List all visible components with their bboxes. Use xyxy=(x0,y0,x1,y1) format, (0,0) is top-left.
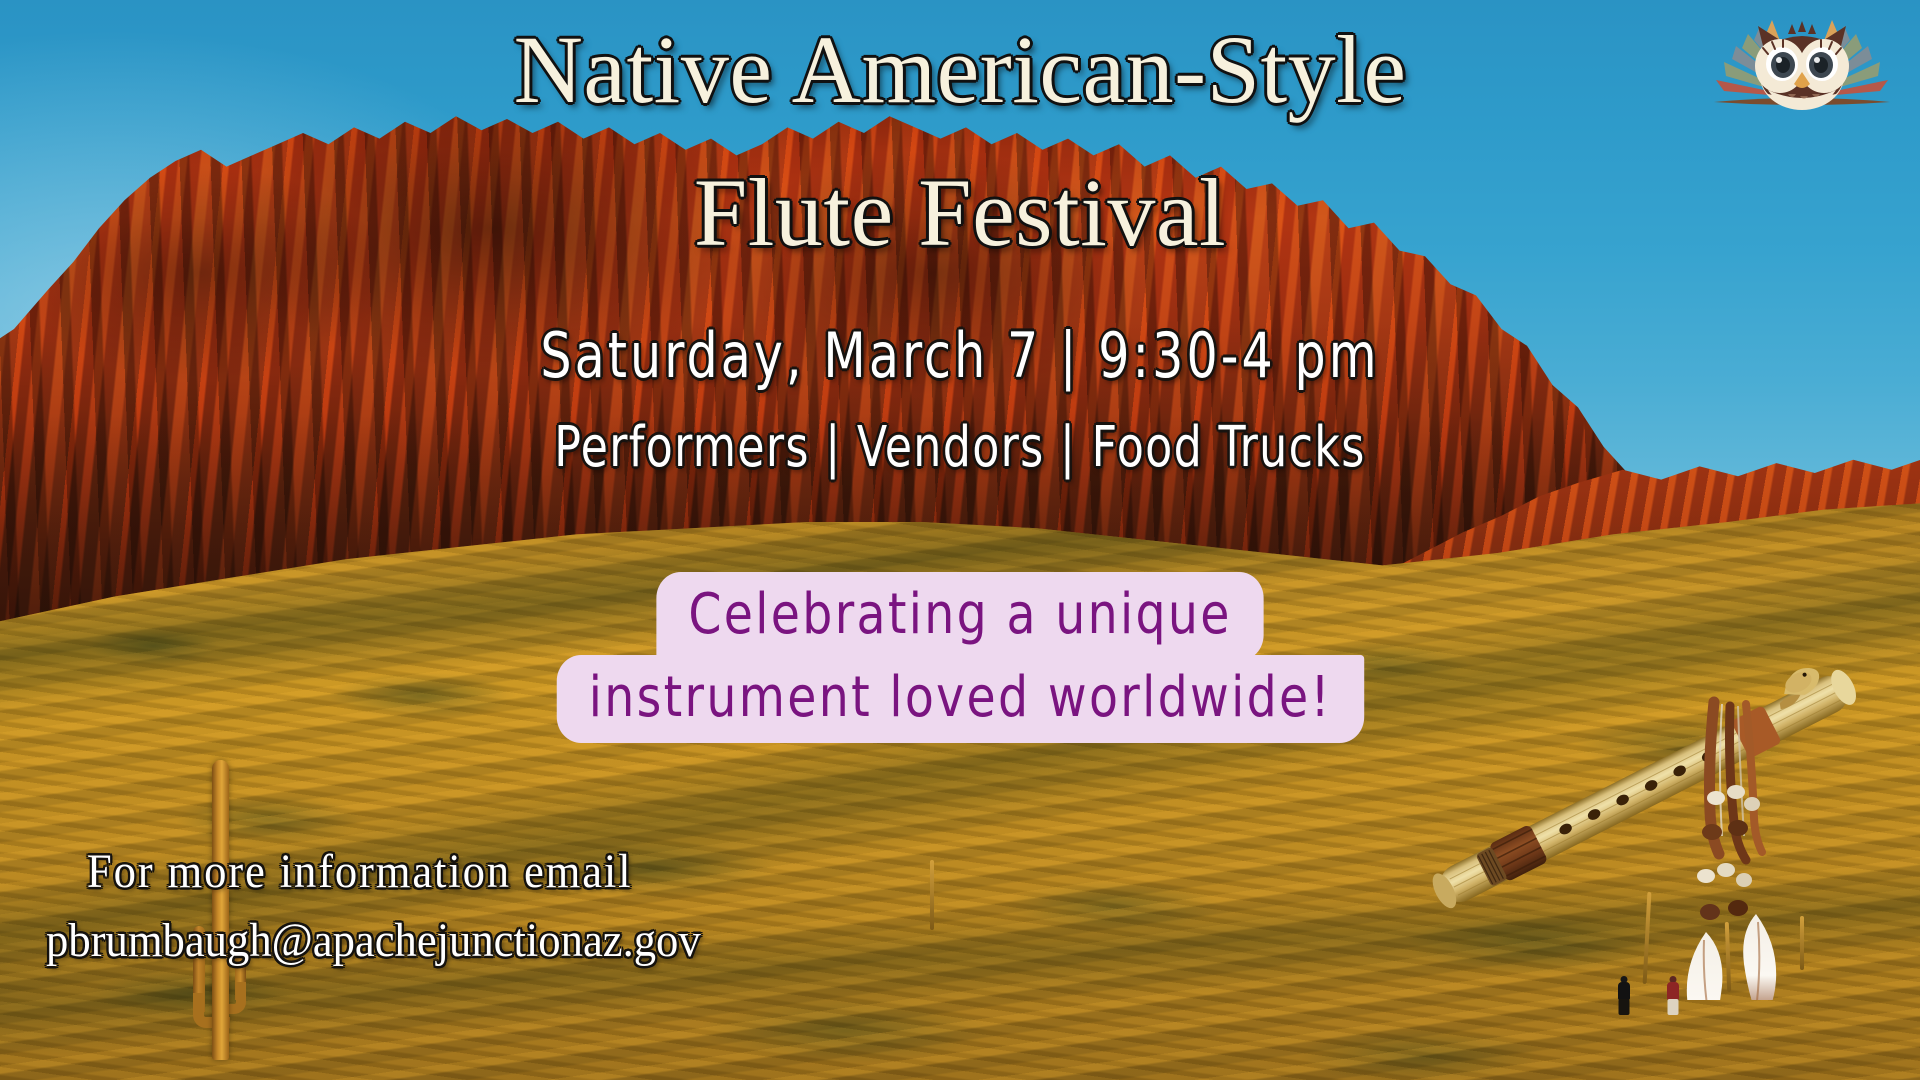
event-date-time: Saturday, March 7 | 9:30-4 pm xyxy=(115,325,1805,387)
poster-title-line-1: Native American-Style xyxy=(0,22,1920,118)
poster-text-layer: Native American-Style Flute Festival Sat… xyxy=(0,0,1920,1080)
flute-festival-poster: Native American-Style Flute Festival Sat… xyxy=(0,0,1920,1080)
tagline-line-1: Celebrating a unique xyxy=(656,572,1263,661)
contact-instruction: For more information email xyxy=(87,841,701,903)
contact-block: For more information email pbrumbaugh@ap… xyxy=(46,841,701,972)
poster-title-line-2: Flute Festival xyxy=(0,165,1920,261)
tagline-banner: Celebrating a unique instrument loved wo… xyxy=(0,572,1920,743)
event-offerings: Performers | Vendors | Food Trucks xyxy=(115,420,1805,476)
contact-email[interactable]: pbrumbaugh@apachejunctionaz.gov xyxy=(46,910,701,972)
tagline-line-2: instrument loved worldwide! xyxy=(556,655,1363,744)
